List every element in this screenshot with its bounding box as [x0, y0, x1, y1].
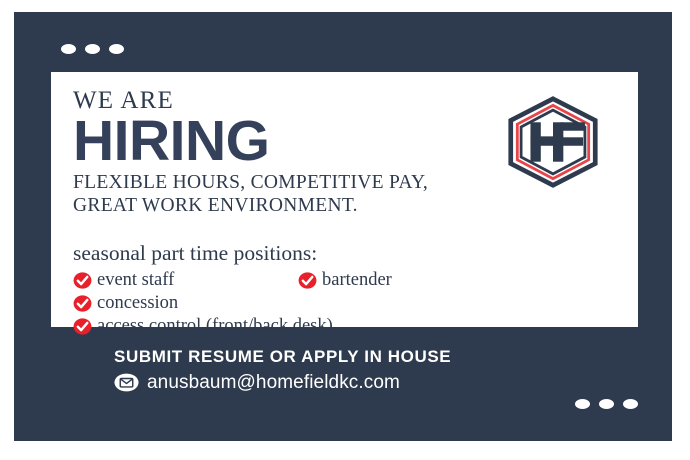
dot-icon	[575, 399, 590, 409]
headline-tagline-line-2: GREAT WORK ENVIRONMENT.	[73, 194, 618, 217]
hiring-poster: WE ARE HIRING FLEXIBLE HOURS, COMPETITIV…	[0, 0, 690, 460]
positions-column-left-first-item: event staff	[73, 269, 298, 292]
positions-title: seasonal part time positions:	[73, 242, 618, 266]
poster-white-card: WE ARE HIRING FLEXIBLE HOURS, COMPETITIV…	[51, 72, 638, 327]
dot-icon	[599, 399, 614, 409]
check-circle-icon	[73, 295, 92, 312]
position-label: access control (front/back desk)	[97, 316, 333, 337]
position-label: event staff	[97, 270, 174, 291]
footer-email-address: anusbaum@homefieldkc.com	[147, 373, 400, 392]
position-label: concession	[97, 293, 178, 314]
positions-column-right: bartender	[298, 269, 392, 292]
footer-contact-row: anusbaum@homefieldkc.com	[114, 373, 451, 392]
hf-hexagon-logo-icon	[506, 96, 600, 188]
dot-icon	[85, 44, 100, 54]
poster-dark-panel: WE ARE HIRING FLEXIBLE HOURS, COMPETITIV…	[14, 12, 672, 441]
dot-icon	[61, 44, 76, 54]
position-item: event staff	[73, 269, 298, 291]
decorative-dots-bottom-right	[575, 399, 638, 409]
dot-icon	[109, 44, 124, 54]
decorative-dots-top-left	[61, 44, 124, 54]
headline-area: WE ARE HIRING FLEXIBLE HOURS, COMPETITIV…	[73, 88, 618, 217]
footer-area: SUBMIT RESUME OR APPLY IN HOUSE anusbaum…	[114, 348, 451, 392]
check-circle-icon	[298, 272, 317, 289]
check-circle-icon	[73, 272, 92, 289]
footer-heading: SUBMIT RESUME OR APPLY IN HOUSE	[114, 348, 451, 365]
position-label: bartender	[322, 270, 392, 291]
positions-row-first: event staff bartender	[73, 269, 618, 292]
position-item: concession	[73, 292, 618, 314]
dot-icon	[623, 399, 638, 409]
check-circle-icon	[73, 318, 92, 335]
envelope-icon	[114, 373, 139, 392]
position-item: access control (front/back desk)	[73, 315, 618, 337]
positions-block: seasonal part time positions: event staf…	[73, 242, 618, 338]
position-item: bartender	[298, 269, 392, 291]
